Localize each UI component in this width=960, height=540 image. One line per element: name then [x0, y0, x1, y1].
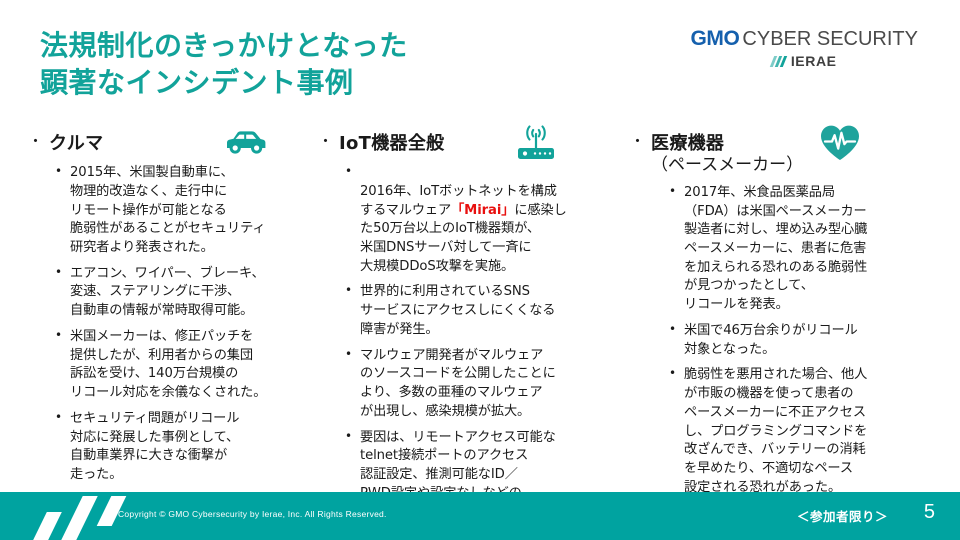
page-title: 法規制化のきっかけとなった 顕著なインシデント事例: [40, 28, 408, 102]
list-item: セキュリティ問題がリコール 対応に発展した事例として、 自動車業界に大きな衝撃が…: [54, 410, 310, 485]
list-item: 米国メーカーは、修正パッチを 提供したが、利用者からの集団 訴訟を受け、140万…: [54, 328, 310, 403]
column-bullet-marker: ・: [318, 134, 333, 151]
column-medical-heading: 医療機器: [651, 133, 724, 154]
router-icon: [510, 122, 562, 169]
logo-primary-row: GMO CYBER SECURITY: [690, 28, 918, 49]
column-car-list: 2015年、米国製自動車に、 物理的改造なく、走行中に リモート操作が可能となる…: [28, 164, 310, 485]
list-item: 2015年、米国製自動車に、 物理的改造なく、走行中に リモート操作が可能となる…: [54, 164, 310, 258]
column-iot-header: ・ IoT機器全般: [318, 132, 620, 155]
column-iot: ・ IoT機器全般: [310, 132, 620, 492]
page-number: 5: [924, 501, 935, 524]
list-item: 脆弱性を悪用された場合、他人 が市販の機器を使って患者の ペースメーカーに不正ア…: [668, 366, 960, 497]
company-logo: GMO CYBER SECURITY IERAE: [690, 28, 918, 68]
column-medical-subheading: （ペースメーカー）: [651, 155, 803, 177]
column-medical-header: ・ 医療機器 （ペースメーカー）: [630, 132, 960, 177]
column-car-heading: クルマ: [49, 132, 103, 155]
logo-brand-text: GMO: [690, 28, 739, 49]
copyright-text: Copyright © GMO Cybersecurity by Ierae, …: [118, 509, 387, 519]
list-item: 米国で46万台余りがリコール 対象となった。: [668, 322, 960, 359]
column-bullet-marker: ・: [630, 134, 645, 151]
list-item: エアコン、ワイパー、ブレーキ、 変速、ステアリングに干渉、 自動車の情報が常時取…: [54, 265, 310, 321]
column-iot-heading: IoT機器全般: [339, 132, 444, 155]
list-item: マルウェア開発者がマルウェア のソースコードを公開したことに より、多数の亜種の…: [344, 347, 620, 422]
logo-secondary-row: IERAE: [690, 54, 918, 68]
list-item: 2017年、米食品医薬品局 （FDA）は米国ペースメーカー 製造者に対し、埋め込…: [668, 184, 960, 315]
slashes-icon: [772, 56, 787, 67]
audience-note: ＜参加者限り＞: [797, 506, 888, 525]
column-medical-list: 2017年、米食品医薬品局 （FDA）は米国ペースメーカー 製造者に対し、埋め込…: [630, 184, 960, 498]
list-item: 世界的に利用されているSNS サービスにアクセスしにくくなる 障害が発生。: [344, 283, 620, 339]
column-iot-list: 2016年、IoTボットネットを構成 するマルウェア「Mirai」に感染し た5…: [318, 164, 620, 522]
column-car: ・ クルマ 2015年、米国製自動車に、 物理的改造なく、走行中に リモート操作…: [0, 132, 310, 492]
column-bullet-marker: ・: [28, 134, 43, 151]
heart-pulse-icon: [818, 122, 862, 169]
column-medical: ・ 医療機器 （ペースメーカー） 2017年、米食品医薬品局 （FDA）は米国ペ…: [620, 132, 960, 492]
slide-footer: Copyright © GMO Cybersecurity by Ierae, …: [0, 492, 960, 540]
car-icon: [222, 128, 268, 163]
column-medical-heading-wrap: 医療機器 （ペースメーカー）: [651, 132, 803, 177]
slide-root: GMO CYBER SECURITY IERAE 法規制化のきっかけとなった 顕…: [0, 0, 960, 540]
logo-product-text: CYBER SECURITY: [742, 29, 918, 49]
list-item: 2016年、IoTボットネットを構成 するマルウェア「Mirai」に感染し た5…: [344, 164, 620, 276]
list-item-highlight: 「Mirai」: [451, 203, 514, 218]
logo-sub-text: IERAE: [791, 54, 837, 68]
content-columns: ・ クルマ 2015年、米国製自動車に、 物理的改造なく、走行中に リモート操作…: [0, 132, 960, 492]
